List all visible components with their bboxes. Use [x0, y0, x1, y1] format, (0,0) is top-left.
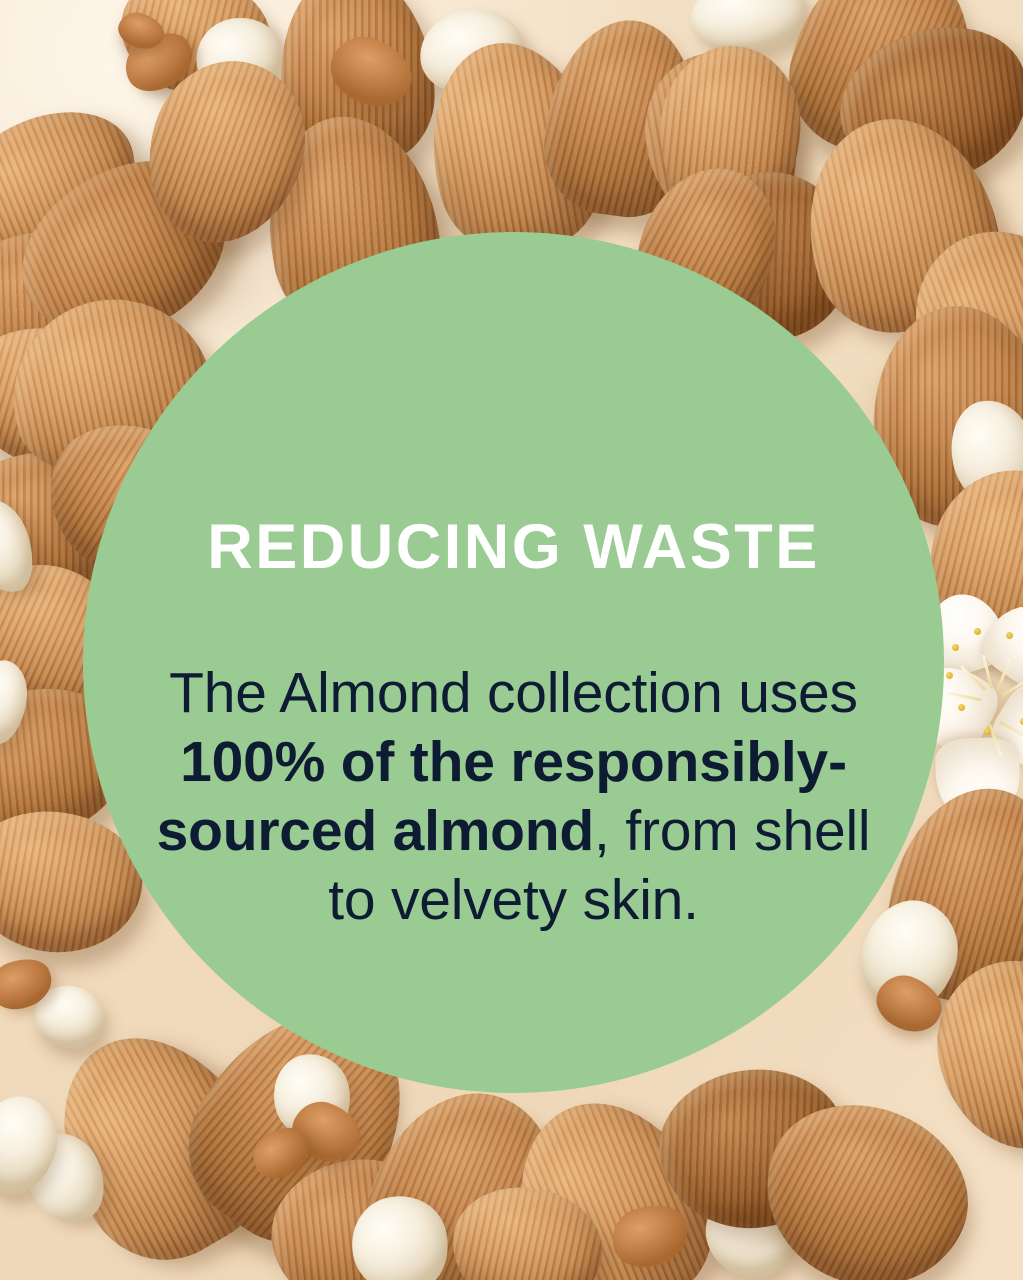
blossom-anther [952, 644, 959, 651]
body-lead: The Almond collection uses [169, 661, 858, 725]
green-circle-badge: REDUCING WASTE The Almond collection use… [83, 232, 944, 1093]
page-title: REDUCING WASTE [83, 516, 944, 579]
blossom-anther [984, 728, 991, 735]
body-copy: The Almond collection uses 100% of the r… [153, 659, 874, 935]
promo-graphic: REDUCING WASTE The Almond collection use… [0, 0, 1023, 1280]
blossom-anther [1006, 632, 1013, 639]
blossom-anther [946, 672, 953, 679]
blossom-anther [974, 628, 981, 635]
blossom-anther [958, 704, 965, 711]
